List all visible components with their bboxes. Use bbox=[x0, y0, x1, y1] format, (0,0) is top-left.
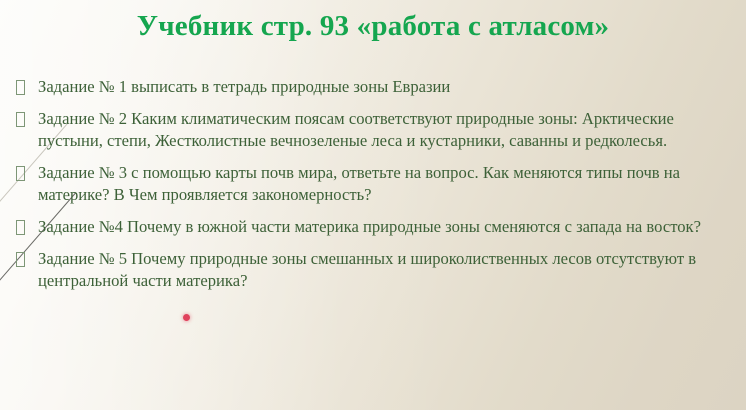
hollow-box-bullet-icon bbox=[16, 80, 38, 96]
laser-pointer-dot bbox=[183, 314, 190, 321]
hollow-box-bullet-icon bbox=[16, 220, 38, 236]
list-item: Задание №4 Почему в южной части материка… bbox=[16, 216, 722, 238]
list-item: Задание № 3 с помощью карты почв мира, о… bbox=[16, 162, 722, 206]
list-item-text: Задание № 3 с помощью карты почв мира, о… bbox=[38, 162, 722, 206]
slide-canvas: Учебник стр. 93 «работа с атласом» Задан… bbox=[0, 0, 746, 410]
task-list: Задание № 1 выписать в тетрадь природные… bbox=[16, 76, 722, 303]
list-item-text: Задание №4 Почему в южной части материка… bbox=[38, 216, 722, 238]
hollow-box-bullet-icon bbox=[16, 112, 38, 128]
list-item: Задание № 5 Почему природные зоны смешан… bbox=[16, 248, 722, 292]
list-item-text: Задание № 2 Каким климатическим поясам с… bbox=[38, 108, 722, 152]
hollow-box-bullet-icon bbox=[16, 252, 38, 268]
list-item-text: Задание № 5 Почему природные зоны смешан… bbox=[38, 248, 722, 292]
slide-title: Учебник стр. 93 «работа с атласом» bbox=[0, 10, 746, 43]
hollow-box-bullet-icon bbox=[16, 166, 38, 182]
list-item-text: Задание № 1 выписать в тетрадь природные… bbox=[38, 76, 722, 98]
list-item: Задание № 1 выписать в тетрадь природные… bbox=[16, 76, 722, 98]
list-item: Задание № 2 Каким климатическим поясам с… bbox=[16, 108, 722, 152]
